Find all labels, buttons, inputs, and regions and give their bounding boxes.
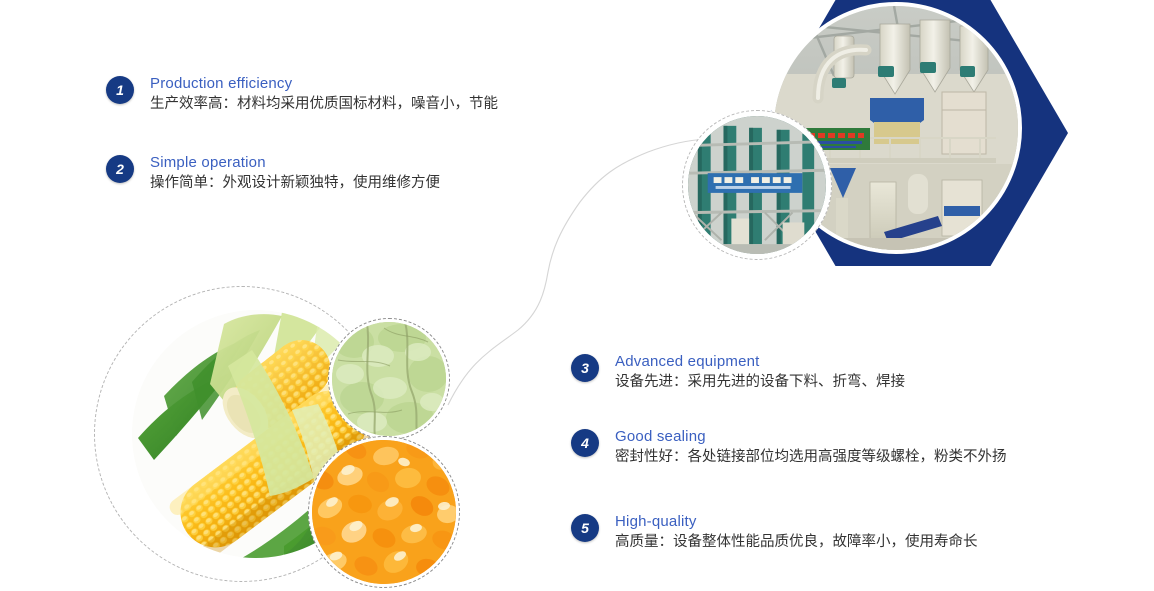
feature-badge-2: 2 [106, 155, 134, 183]
feature-desc-4: 密封性好：各处链接部位均选用高强度等级螺栓，粉类不外扬 [615, 447, 1007, 468]
feature-desc-3: 设备先进：采用先进的设备下料、折弯、焊接 [615, 372, 905, 393]
feature-title-3: Advanced equipment [615, 352, 905, 371]
feature-item-4[interactable]: 4 Good sealing 密封性好：各处链接部位均选用高强度等级螺栓，粉类不… [571, 427, 1007, 468]
green-milling-machinery-photo [682, 110, 832, 260]
feature-text-2: Simple operation 操作简单：外观设计新颖独特，使用维修方便 [150, 153, 440, 194]
feature-text-1: Production efficiency 生产效率高：材料均采用优质国标材料，… [150, 74, 498, 115]
corn-photo-group [90, 280, 490, 591]
feature-item-2[interactable]: 2 Simple operation 操作简单：外观设计新颖独特，使用维修方便 [106, 153, 440, 194]
feature-desc-2: 操作简单：外观设计新颖独特，使用维修方便 [150, 173, 440, 194]
feature-item-3[interactable]: 3 Advanced equipment 设备先进：采用先进的设备下料、折弯、焊… [571, 352, 905, 393]
plant-photo-group [660, 0, 1154, 280]
feature-desc-5: 高质量：设备整体性能品质优良，故障率小，使用寿命长 [615, 532, 978, 553]
feature-title-5: High-quality [615, 512, 978, 531]
feature-desc-1: 生产效率高：材料均采用优质国标材料，噪音小，节能 [150, 94, 498, 115]
feature-title-1: Production efficiency [150, 74, 498, 93]
corn-grits-photo [308, 436, 460, 588]
feature-text-4: Good sealing 密封性好：各处链接部位均选用高强度等级螺栓，粉类不外扬 [615, 427, 1007, 468]
feature-title-4: Good sealing [615, 427, 1007, 446]
feature-text-5: High-quality 高质量：设备整体性能品质优良，故障率小，使用寿命长 [615, 512, 978, 553]
corn-paste-photo [328, 318, 450, 440]
feature-badge-3: 3 [571, 354, 599, 382]
feature-badge-5: 5 [571, 514, 599, 542]
feature-text-3: Advanced equipment 设备先进：采用先进的设备下料、折弯、焊接 [615, 352, 905, 393]
feature-item-5[interactable]: 5 High-quality 高质量：设备整体性能品质优良，故障率小，使用寿命长 [571, 512, 978, 553]
feature-badge-1: 1 [106, 76, 134, 104]
infographic-canvas: 1 Production efficiency 生产效率高：材料均采用优质国标材… [0, 0, 1154, 591]
feature-item-1[interactable]: 1 Production efficiency 生产效率高：材料均采用优质国标材… [106, 74, 498, 115]
feature-title-2: Simple operation [150, 153, 440, 172]
feature-badge-4: 4 [571, 429, 599, 457]
